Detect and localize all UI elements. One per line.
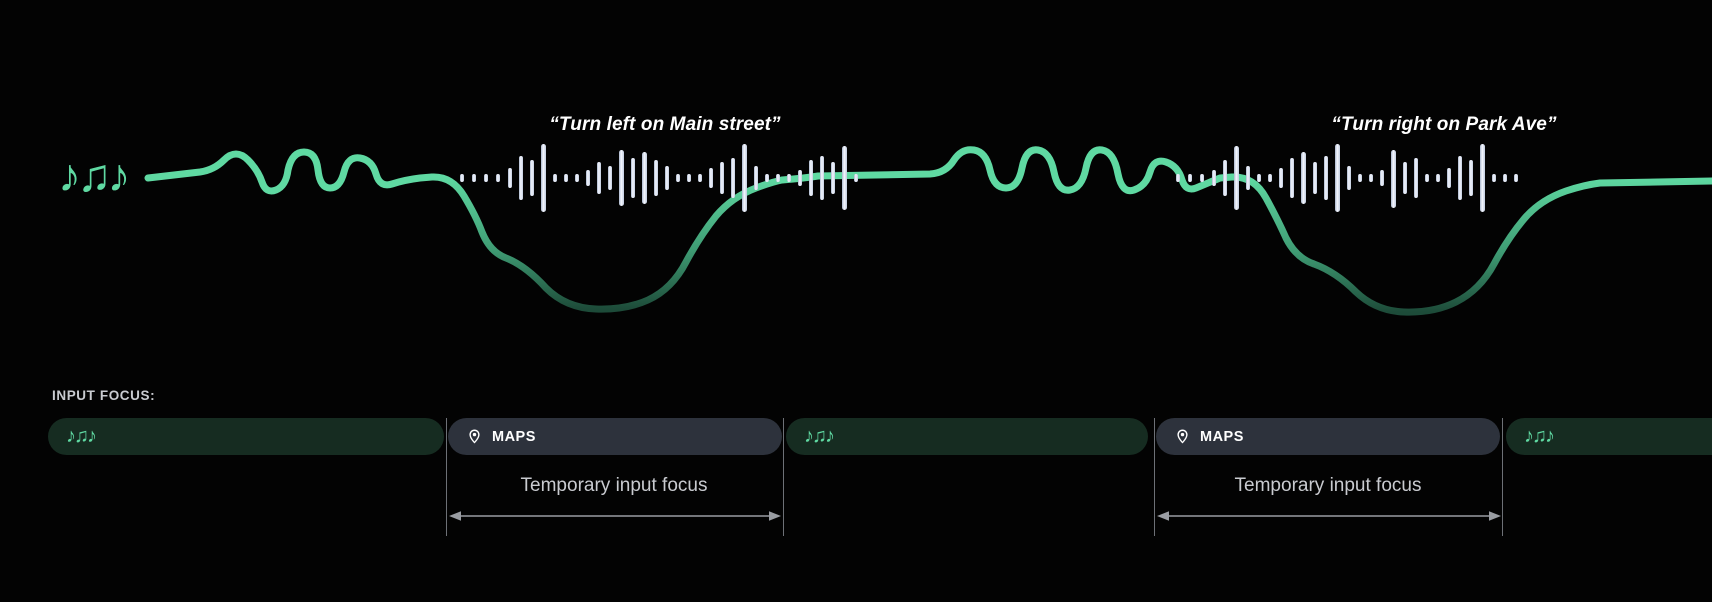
focus-segment-audio-3[interactable]: ♪♫♪: [1506, 418, 1712, 455]
segment-divider-4: [1502, 418, 1503, 536]
music-amplitude-line: [0, 0, 1712, 340]
focus-segment-label: MAPS: [492, 429, 536, 445]
span-note-2: Temporary input focus: [1235, 475, 1422, 497]
input-focus-label: INPUT FOCUS:: [52, 388, 155, 403]
waveform-scene: ♪♫♪ “Turn left on Main street” “Turn rig…: [0, 0, 1712, 602]
utterance-caption-1: “Turn left on Main street”: [549, 114, 780, 136]
music-notes-icon: ♪♫♪: [58, 152, 127, 198]
span-note-1: Temporary input focus: [521, 475, 708, 497]
segment-divider-3: [1154, 418, 1155, 536]
focus-segment-maps-1[interactable]: MAPS: [448, 418, 782, 455]
music-notes-icon: ♪♫♪: [804, 426, 833, 446]
focus-segment-label: MAPS: [1200, 429, 1244, 445]
music-notes-icon: ♪♫♪: [66, 426, 95, 446]
focus-segment-audio-1[interactable]: ♪♫♪: [48, 418, 444, 455]
span-arrow-2: [1156, 509, 1502, 523]
segment-divider-1: [446, 418, 447, 536]
map-pin-icon: [1174, 428, 1191, 445]
audio-ducking-chart: ♪♫♪ “Turn left on Main street” “Turn rig…: [0, 0, 1712, 340]
segment-divider-2: [783, 418, 784, 536]
voice-bars-utterance-1: [460, 144, 858, 212]
input-focus-track: ♪♫♪ MAPS ♪♫♪ MAPS ♪♫♪: [0, 418, 1712, 568]
utterance-caption-2: “Turn right on Park Ave”: [1331, 114, 1556, 136]
span-arrow-1: [448, 509, 782, 523]
music-notes-icon: ♪♫♪: [1524, 426, 1553, 446]
map-pin-icon: [466, 428, 483, 445]
focus-segment-audio-2[interactable]: ♪♫♪: [786, 418, 1148, 455]
focus-segment-maps-2[interactable]: MAPS: [1156, 418, 1500, 455]
